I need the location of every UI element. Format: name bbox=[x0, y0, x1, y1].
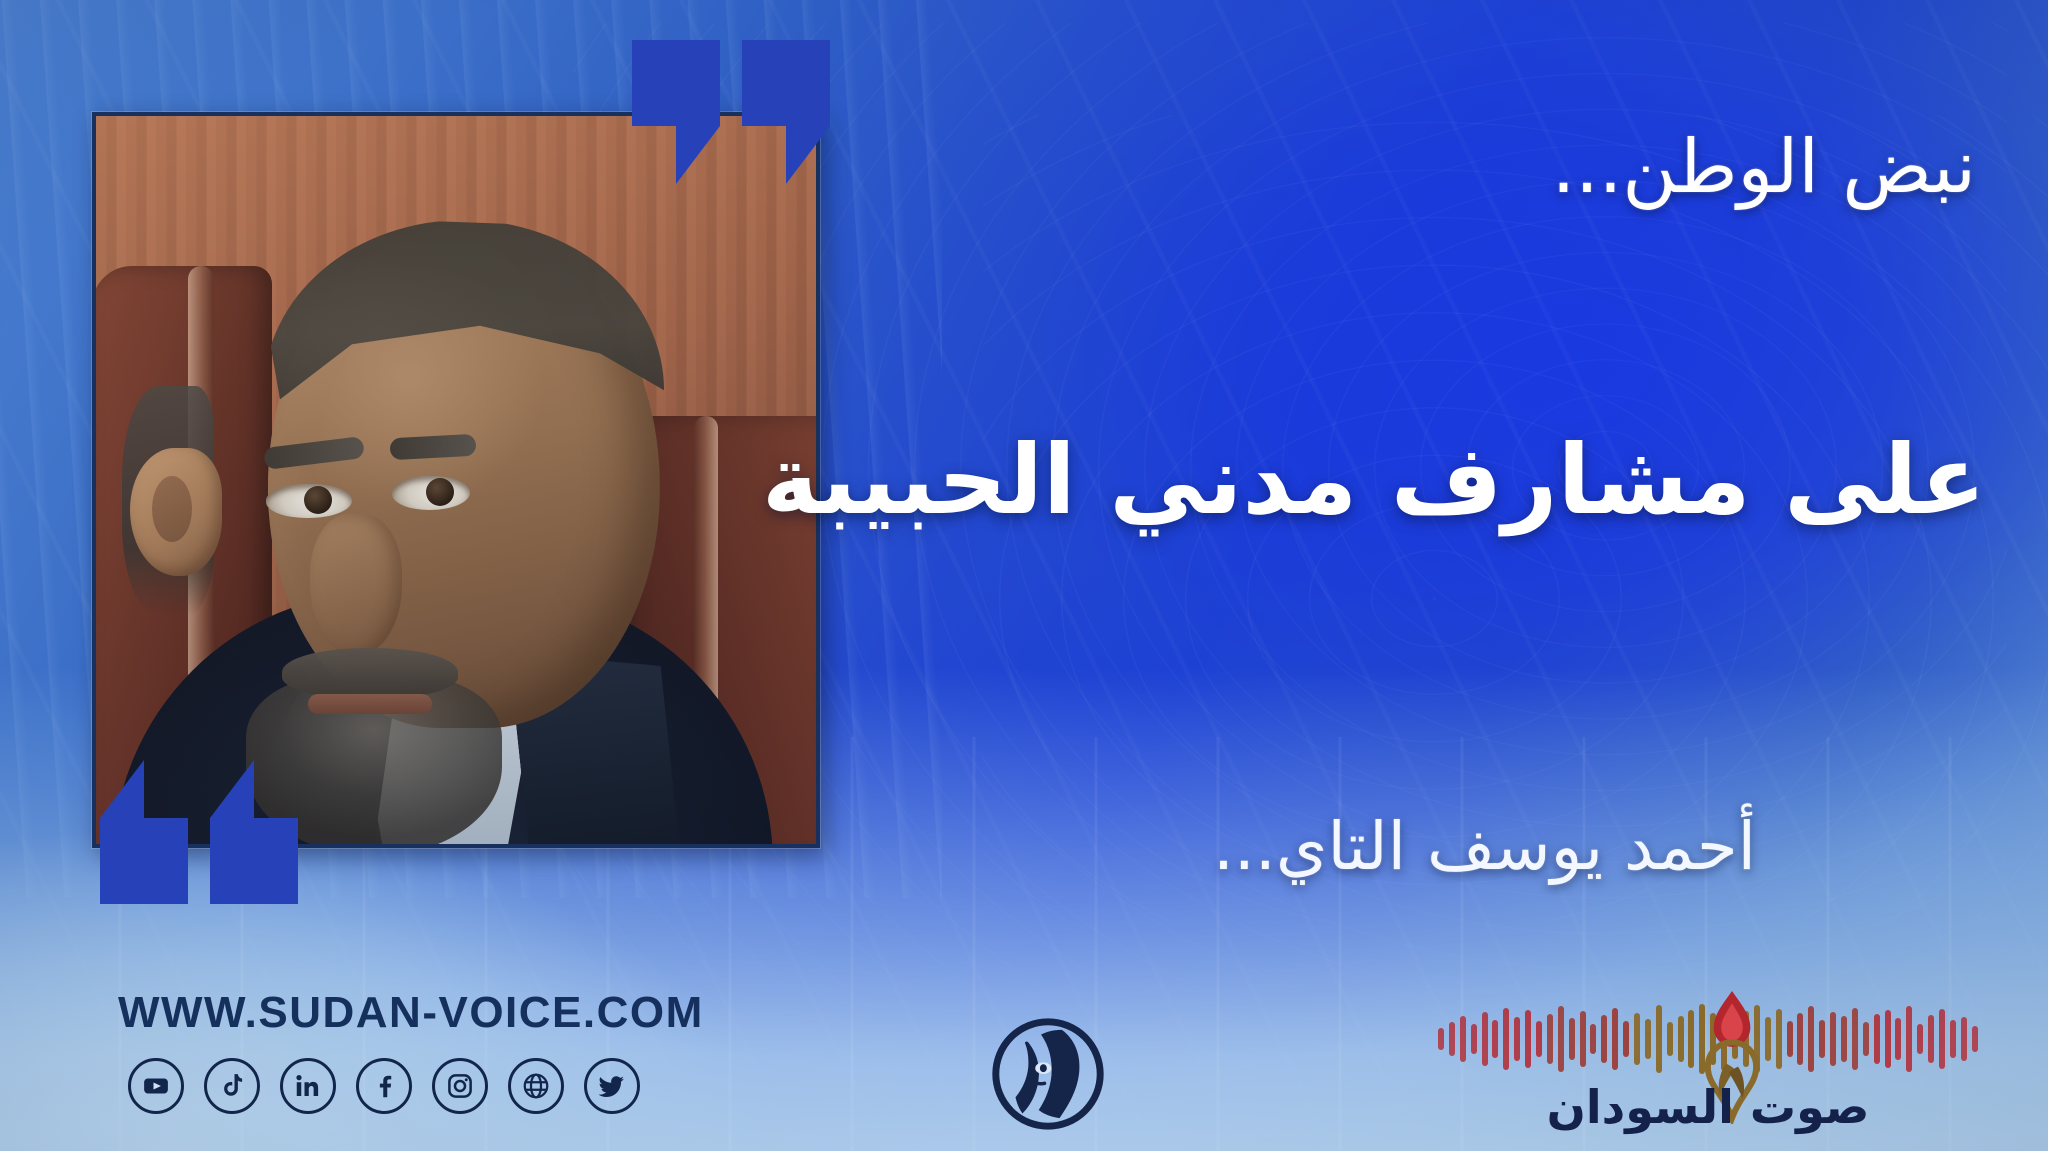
waveform-bar bbox=[1819, 1020, 1825, 1058]
brand-name: صوت السودان bbox=[1438, 1080, 1978, 1134]
waveform-bar bbox=[1678, 1016, 1684, 1062]
waveform-bar bbox=[1471, 1024, 1477, 1054]
waveform-bar bbox=[1634, 1013, 1640, 1065]
waveform-bar bbox=[1536, 1021, 1542, 1057]
waveform-bar bbox=[1612, 1008, 1618, 1070]
waveform-bar bbox=[1950, 1020, 1956, 1058]
waveform-bar bbox=[1787, 1021, 1793, 1057]
quote-glyph-1 bbox=[632, 40, 720, 126]
waveform-bar bbox=[1460, 1016, 1466, 1062]
waveform-bar bbox=[1569, 1018, 1575, 1060]
portrait-photo bbox=[92, 112, 820, 848]
waveform-bar bbox=[1863, 1022, 1869, 1056]
waveform-bar bbox=[1917, 1024, 1923, 1054]
headline-title: على مشارف مدني الحبيبة bbox=[762, 424, 1986, 537]
photo-color-tone bbox=[96, 116, 816, 844]
waveform-bar bbox=[1656, 1005, 1662, 1073]
waveform-bar bbox=[1972, 1026, 1978, 1052]
waveform-bar bbox=[1645, 1019, 1651, 1059]
facebook-icon[interactable] bbox=[356, 1058, 412, 1114]
waveform-bar bbox=[1590, 1024, 1596, 1054]
face-portrait-emblem bbox=[990, 1016, 1106, 1132]
waveform-bar bbox=[1547, 1014, 1553, 1064]
waveform-bar bbox=[1874, 1014, 1880, 1064]
waveform-bar bbox=[1830, 1012, 1836, 1066]
waveform-bar bbox=[1482, 1012, 1488, 1066]
twitter-icon[interactable] bbox=[584, 1058, 640, 1114]
waveform-bar bbox=[1939, 1009, 1945, 1069]
tagline: نبض الوطن... bbox=[1552, 124, 1976, 210]
brand-logo: صوت السودان bbox=[1438, 1000, 1978, 1128]
quote-glyph-4 bbox=[100, 818, 188, 904]
tiktok-icon[interactable] bbox=[204, 1058, 260, 1114]
waveform-bar bbox=[1623, 1021, 1629, 1057]
waveform-bar bbox=[1667, 1022, 1673, 1056]
close-quote-icon bbox=[100, 818, 298, 904]
waveform-bar bbox=[1503, 1008, 1509, 1070]
youtube-icon[interactable] bbox=[128, 1058, 184, 1114]
waveform-bar bbox=[1841, 1016, 1847, 1062]
waveform-bar bbox=[1961, 1017, 1967, 1061]
article-card: نبض الوطن... على مشارف مدني الحبيبة أحمد… bbox=[0, 0, 2048, 1151]
author-byline: أحمد يوسف التاي... bbox=[1213, 808, 1756, 885]
waveform-bar bbox=[1808, 1006, 1814, 1072]
waveform-bar bbox=[1601, 1015, 1607, 1063]
waveform-bar bbox=[1895, 1018, 1901, 1060]
website-url[interactable]: WWW.SUDAN-VOICE.COM bbox=[118, 988, 704, 1038]
waveform-bar bbox=[1906, 1006, 1912, 1072]
waveform-bar bbox=[1449, 1022, 1455, 1056]
waveform-bar bbox=[1558, 1006, 1564, 1072]
instagram-icon[interactable] bbox=[432, 1058, 488, 1114]
waveform-bar bbox=[1525, 1010, 1531, 1068]
waveform-bar bbox=[1928, 1015, 1934, 1063]
linkedin-icon[interactable] bbox=[280, 1058, 336, 1114]
quote-glyph-3 bbox=[210, 818, 298, 904]
waveform-bar bbox=[1492, 1020, 1498, 1058]
quote-glyph-2 bbox=[742, 40, 830, 126]
waveform-bar bbox=[1852, 1008, 1858, 1070]
waveform-bar bbox=[1514, 1017, 1520, 1061]
waveform-bar bbox=[1885, 1010, 1891, 1068]
open-quote-icon bbox=[632, 40, 830, 126]
social-links bbox=[128, 1058, 640, 1114]
waveform-bar bbox=[1438, 1028, 1444, 1050]
globe-icon[interactable] bbox=[508, 1058, 564, 1114]
waveform-bar bbox=[1797, 1013, 1803, 1065]
waveform-bar bbox=[1580, 1011, 1586, 1067]
